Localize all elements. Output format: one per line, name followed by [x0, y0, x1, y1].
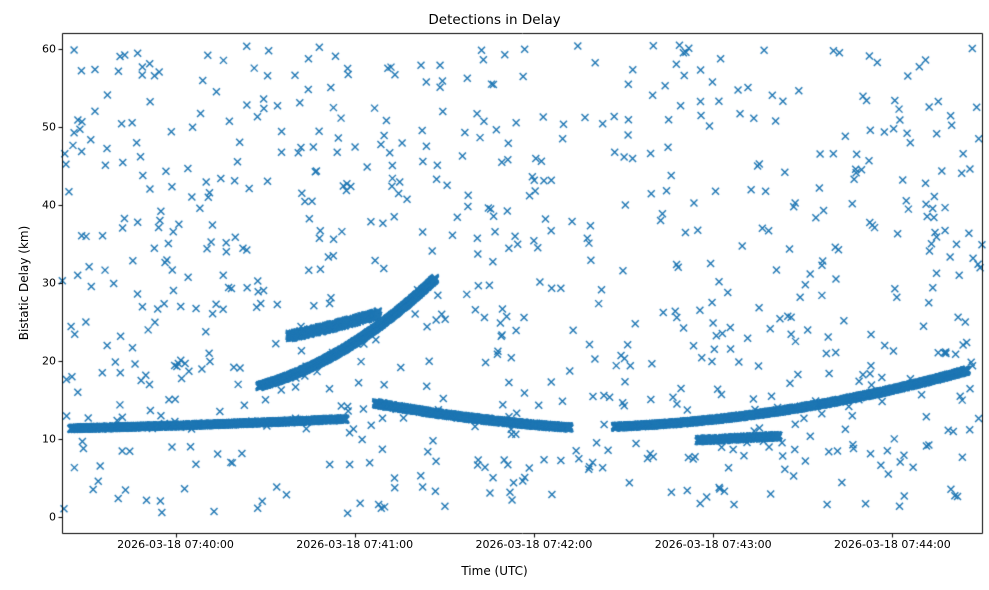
figure-canvas-container: Detections in Delay Time (UTC) Bistatic … [0, 0, 989, 590]
scatter-plot-canvas [0, 0, 989, 590]
